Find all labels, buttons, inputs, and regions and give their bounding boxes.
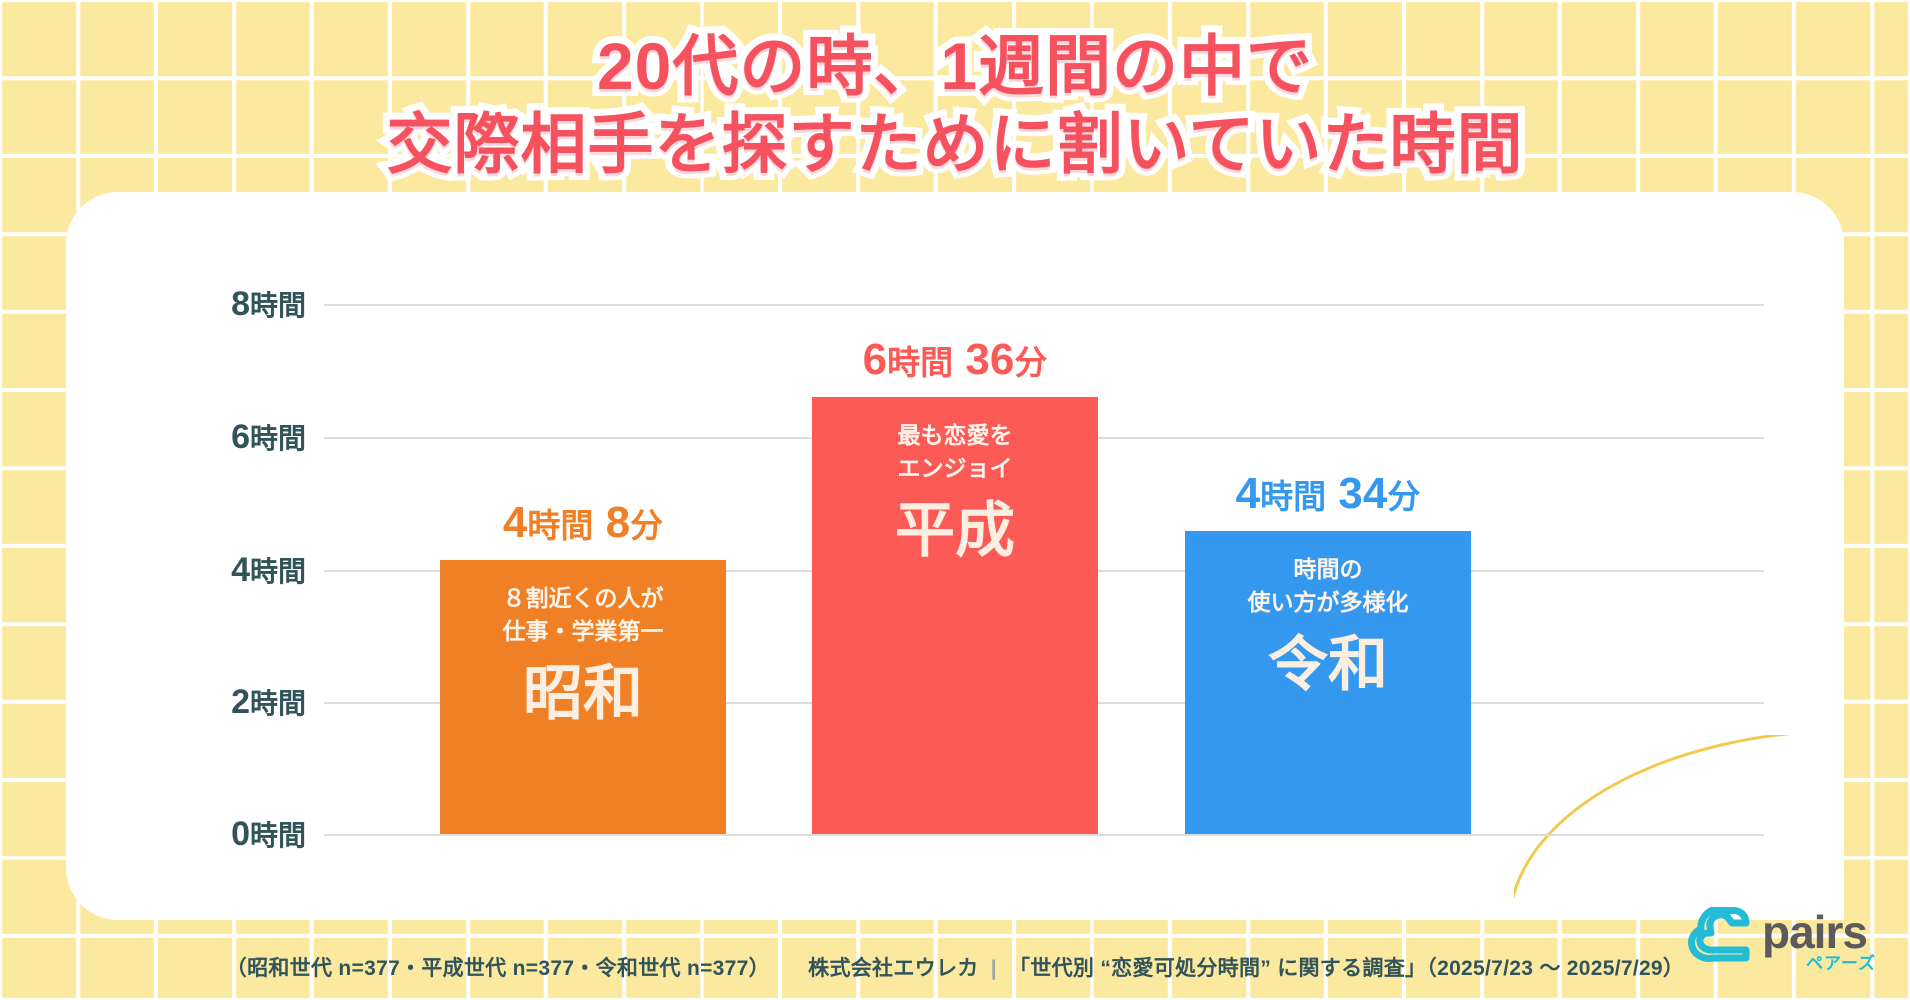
chart-card: 8時間 6時間 4時間 2時間 0時間 4時間 8分 ８割 xyxy=(66,192,1844,920)
bar-era-reiwa: 令和 xyxy=(1185,635,1471,695)
bar-era-heisei: 平成 xyxy=(812,501,1098,561)
footer-survey: 「世代別 “恋愛可処分時間” に関する調査」（2025/7/23 〜 2025/… xyxy=(1009,957,1684,980)
bar-value-reiwa: 4時間 34分 xyxy=(1125,469,1531,519)
bar-reiwa[interactable]: 4時間 34分 時間の 使い方が多様化 令和 xyxy=(1185,531,1471,834)
bar-rect-heisei: 最も恋愛を エンジョイ 平成 xyxy=(812,397,1098,834)
gridline-rule xyxy=(324,304,1764,306)
gridline-0: 0時間 xyxy=(66,834,1844,835)
footer-sample-size: （昭和世代 n=377・平成世代 n=377・令和世代 n=377） xyxy=(226,957,770,980)
bar-chart: 8時間 6時間 4時間 2時間 0時間 4時間 8分 ８割 xyxy=(66,192,1844,920)
bar-showa[interactable]: 4時間 8分 ８割近くの人が 仕事・学業第一 昭和 xyxy=(440,560,726,834)
gridline-rule xyxy=(324,834,1764,836)
y-tick-label-0: 0時間 xyxy=(146,814,306,854)
bar-heisei[interactable]: 6時間 36分 最も恋愛を エンジョイ 平成 xyxy=(812,397,1098,834)
bar-value-showa: 4時間 8分 xyxy=(380,498,786,548)
y-tick-label-8: 8時間 xyxy=(146,284,306,324)
bar-caption-reiwa: 時間の 使い方が多様化 xyxy=(1185,553,1471,620)
y-tick-label-2: 2時間 xyxy=(146,682,306,722)
footer-note: （昭和世代 n=377・平成世代 n=377・令和世代 n=377） 株式会社エ… xyxy=(0,952,1910,982)
pairs-logo[interactable]: pairs ペアーズ xyxy=(1688,905,1878,985)
footer-company: 株式会社エウレカ xyxy=(808,957,978,980)
bar-era-showa: 昭和 xyxy=(440,664,726,724)
logo-wordmark: pairs xyxy=(1762,909,1867,955)
bar-caption-showa: ８割近くの人が 仕事・学業第一 xyxy=(440,582,726,649)
footer-separator: | xyxy=(985,957,1003,980)
title-line-2: 交際相手を探すために割いていた時間 xyxy=(0,106,1910,184)
title-line-1: 20代の時、1週間の中で xyxy=(0,28,1910,106)
logo-kana: ペアーズ xyxy=(1806,955,1876,972)
page-title: 20代の時、1週間の中で 交際相手を探すために割いていた時間 xyxy=(0,28,1910,184)
y-tick-label-6: 6時間 xyxy=(146,417,306,457)
bar-rect-reiwa: 時間の 使い方が多様化 令和 xyxy=(1185,531,1471,834)
bar-caption-heisei: 最も恋愛を エンジョイ xyxy=(812,419,1098,486)
gridline-8: 8時間 xyxy=(66,304,1844,305)
heart-cloud-icon xyxy=(1688,907,1768,963)
bar-rect-showa: ８割近くの人が 仕事・学業第一 昭和 xyxy=(440,560,726,834)
bar-value-heisei: 6時間 36分 xyxy=(752,335,1158,385)
y-tick-label-4: 4時間 xyxy=(146,550,306,590)
